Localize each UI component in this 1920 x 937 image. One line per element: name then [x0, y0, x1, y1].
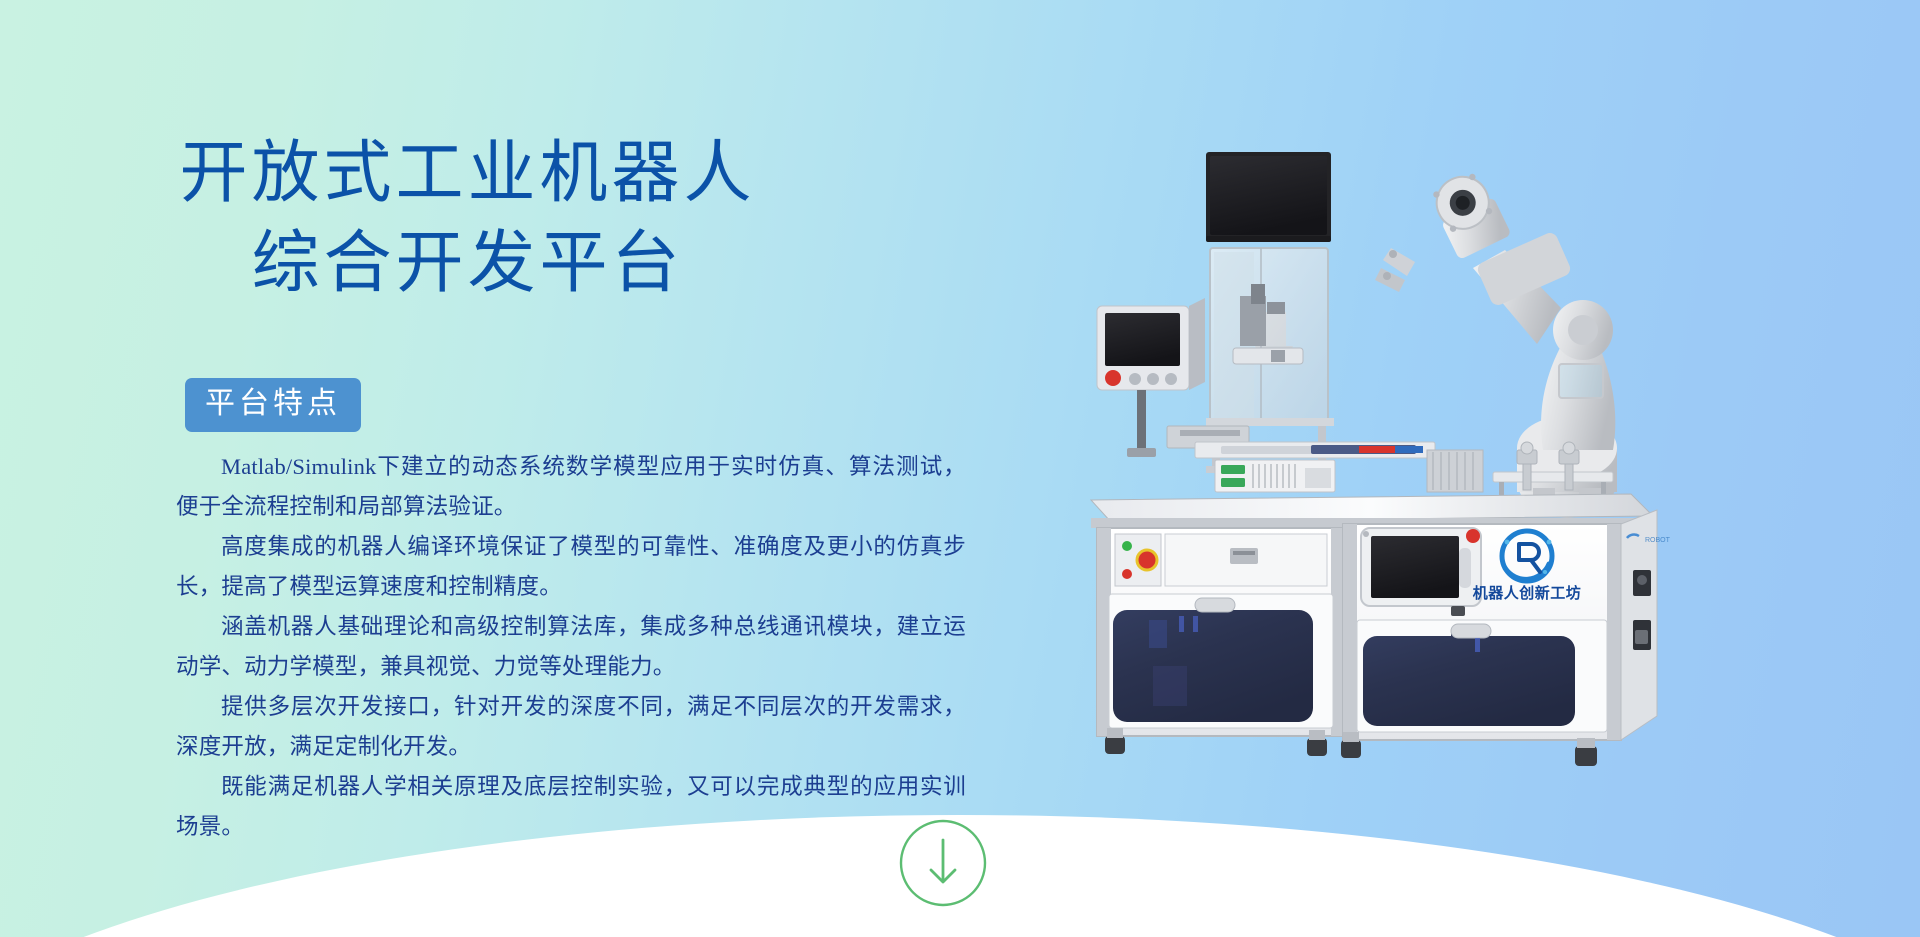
- feature-paragraph: 提供多层次开发接口，针对开发的深度不同，满足不同层次的开发需求，深度开放，满足定…: [176, 687, 966, 767]
- brand-logo-label: 机器人创新工坊: [1473, 584, 1582, 602]
- arrow-down-circle-icon: [898, 818, 988, 908]
- feature-paragraph: 既能满足机器人学相关原理及底层控制实验，又可以完成典型的应用实训场景。: [176, 767, 966, 847]
- robot-arm: [1375, 166, 1617, 518]
- feature-paragraph-list: Matlab/Simulink下建立的动态系统数学模型应用于实时仿真、算法测试，…: [176, 447, 966, 847]
- feature-paragraph: 涵盖机器人基础理论和高级控制算法库，集成多种总线通讯模块，建立运动学、动力学模型…: [176, 607, 966, 687]
- hero-content: 开放式工业机器人 综合开发平台 平台特点 Matlab/Simulink下建立的…: [0, 0, 1010, 937]
- page-title: 开放式工业机器人 综合开发平台: [0, 128, 935, 309]
- title-line-1: 开放式工业机器人: [0, 128, 935, 218]
- side-brand-label: ROBOT: [1645, 537, 1671, 544]
- feature-paragraph: 高度集成的机器人编译环境保证了模型的可靠性、准确度及更小的仿真步长，提高了模型运…: [176, 527, 966, 607]
- scroll-down-button[interactable]: [898, 818, 988, 908]
- feature-paragraph: Matlab/Simulink下建立的动态系统数学模型应用于实时仿真、算法测试，…: [176, 447, 966, 527]
- section-badge: 平台特点: [185, 378, 361, 432]
- title-line-2: 综合开发平台: [0, 218, 935, 308]
- machine-illustration: 机器人创新工坊 ROBOT: [1075, 150, 1695, 780]
- cabinet-assembly: 机器人创新工坊 ROBOT: [1091, 494, 1671, 766]
- hero-banner: 机器人创新工坊 ROBOT: [0, 0, 1920, 937]
